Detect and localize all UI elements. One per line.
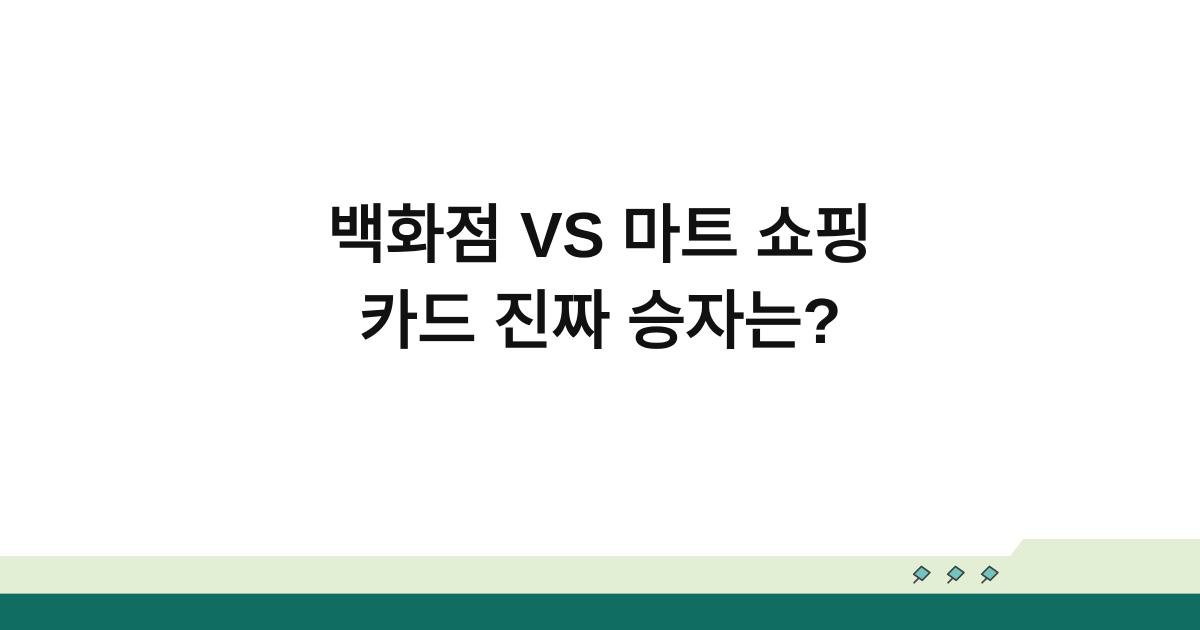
page-title-line-1: 백화점 VS 마트 쇼핑 bbox=[328, 192, 873, 278]
page-title: 백화점 VS 마트 쇼핑 카드 진짜 승자는? bbox=[328, 192, 873, 364]
footer-decoration-icons bbox=[908, 558, 1002, 592]
pushpin-icon bbox=[942, 562, 968, 588]
thumbnail-card: 백화점 VS 마트 쇼핑 카드 진짜 승자는? bbox=[0, 0, 1200, 630]
footer-dark-band bbox=[0, 594, 1200, 630]
footer-band bbox=[0, 535, 1200, 630]
title-area: 백화점 VS 마트 쇼핑 카드 진짜 승자는? bbox=[0, 0, 1200, 557]
footer-light-band-step-corner bbox=[1014, 573, 1200, 594]
pushpin-icon bbox=[976, 562, 1002, 588]
page-title-line-2: 카드 진짜 승자는? bbox=[328, 278, 873, 364]
pushpin-icon bbox=[908, 562, 934, 588]
